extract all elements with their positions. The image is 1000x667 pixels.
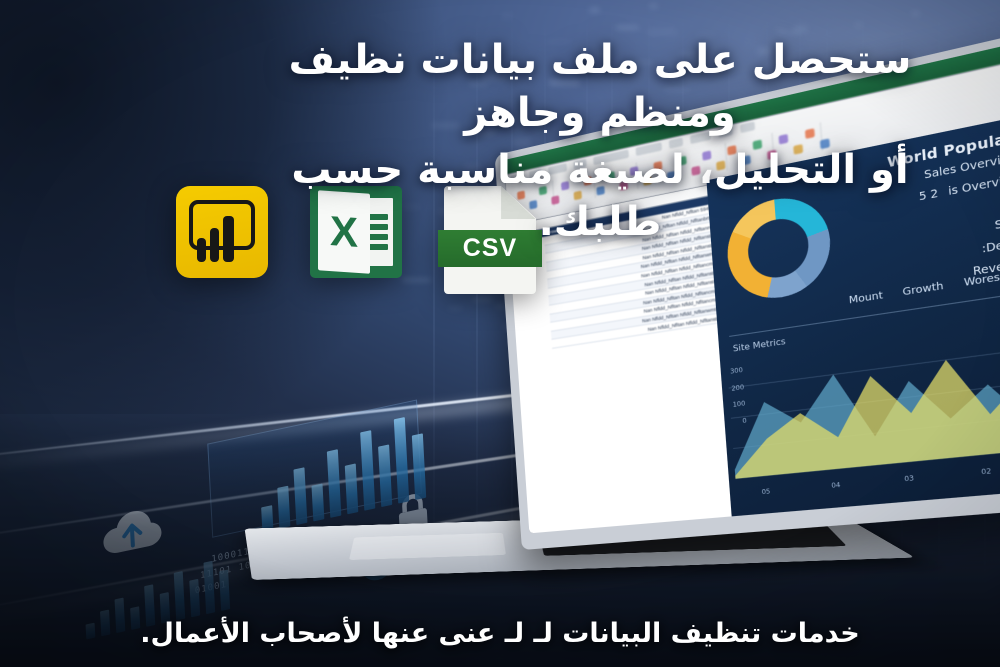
headline: ستحصل على ملف بيانات نظيف ومنظم وجاهز أو… bbox=[240, 34, 960, 249]
headline-line-1: ستحصل على ملف بيانات نظيف ومنظم وجاهز bbox=[240, 34, 960, 140]
headline-line-2-before: أو bbox=[856, 147, 909, 193]
banner-canvas: 11001 100011001111 10000 11101 01001 bbox=[0, 0, 1000, 667]
power-bi-bar-1 bbox=[197, 238, 206, 262]
power-bi-bar-2 bbox=[210, 228, 219, 262]
headline-line-2-after: ، لصيغة مناسبة حسب طلبك. bbox=[291, 147, 713, 246]
power-bi-bar-3 bbox=[223, 216, 234, 262]
headline-highlight-word: التحليل bbox=[714, 147, 856, 193]
subline: خدمات تنظيف البيانات لـ لـ عنى عنها لأصح… bbox=[0, 618, 1000, 649]
headline-line-2: أو التحليل، لصيغة مناسبة حسب طلبك. bbox=[240, 144, 960, 250]
